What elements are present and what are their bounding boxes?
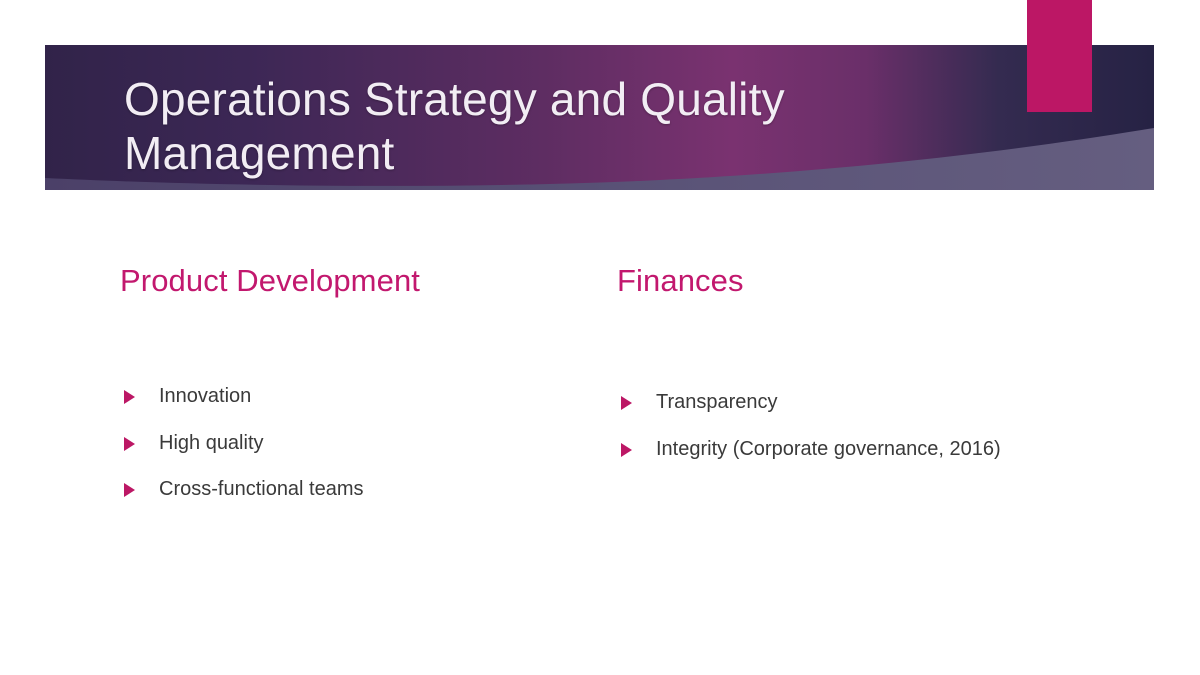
list-item: Cross-functional teams (120, 476, 590, 504)
list-item-label: Innovation (159, 385, 251, 407)
triangle-bullet-icon (124, 390, 135, 404)
triangle-bullet-icon (621, 396, 632, 410)
column-heading-finances: Finances (617, 262, 1087, 299)
presentation-slide: Operations Strategy and Quality Manageme… (0, 0, 1200, 675)
column-heading-product-development: Product Development (120, 262, 590, 299)
triangle-bullet-icon (124, 483, 135, 497)
bullet-list-finances: Transparency Integrity (Corporate govern… (617, 389, 1087, 463)
list-item: High quality (120, 430, 590, 458)
pink-accent-tab (1027, 0, 1092, 112)
list-item-label: Transparency (656, 391, 778, 413)
slide-title: Operations Strategy and Quality Manageme… (124, 72, 924, 181)
triangle-bullet-icon (621, 443, 632, 457)
list-item-citation-year: , 2016) (938, 438, 1000, 460)
list-item-label: Integrity ( (656, 438, 739, 460)
list-item: Transparency (617, 389, 1087, 417)
bullet-list-product-development: Innovation High quality Cross-functional… (120, 383, 590, 504)
triangle-bullet-icon (124, 437, 135, 451)
content-column-finances: Finances Transparency Integrity (Corpora… (617, 262, 1087, 463)
list-item-label: High quality (159, 432, 264, 454)
list-item-label: Cross-functional teams (159, 478, 364, 500)
list-item: Innovation (120, 383, 590, 411)
list-item-citation: Corporate governance (739, 438, 938, 460)
content-column-product-development: Product Development Innovation High qual… (120, 262, 590, 504)
list-item: Integrity (Corporate governance, 2016) (617, 436, 1087, 464)
